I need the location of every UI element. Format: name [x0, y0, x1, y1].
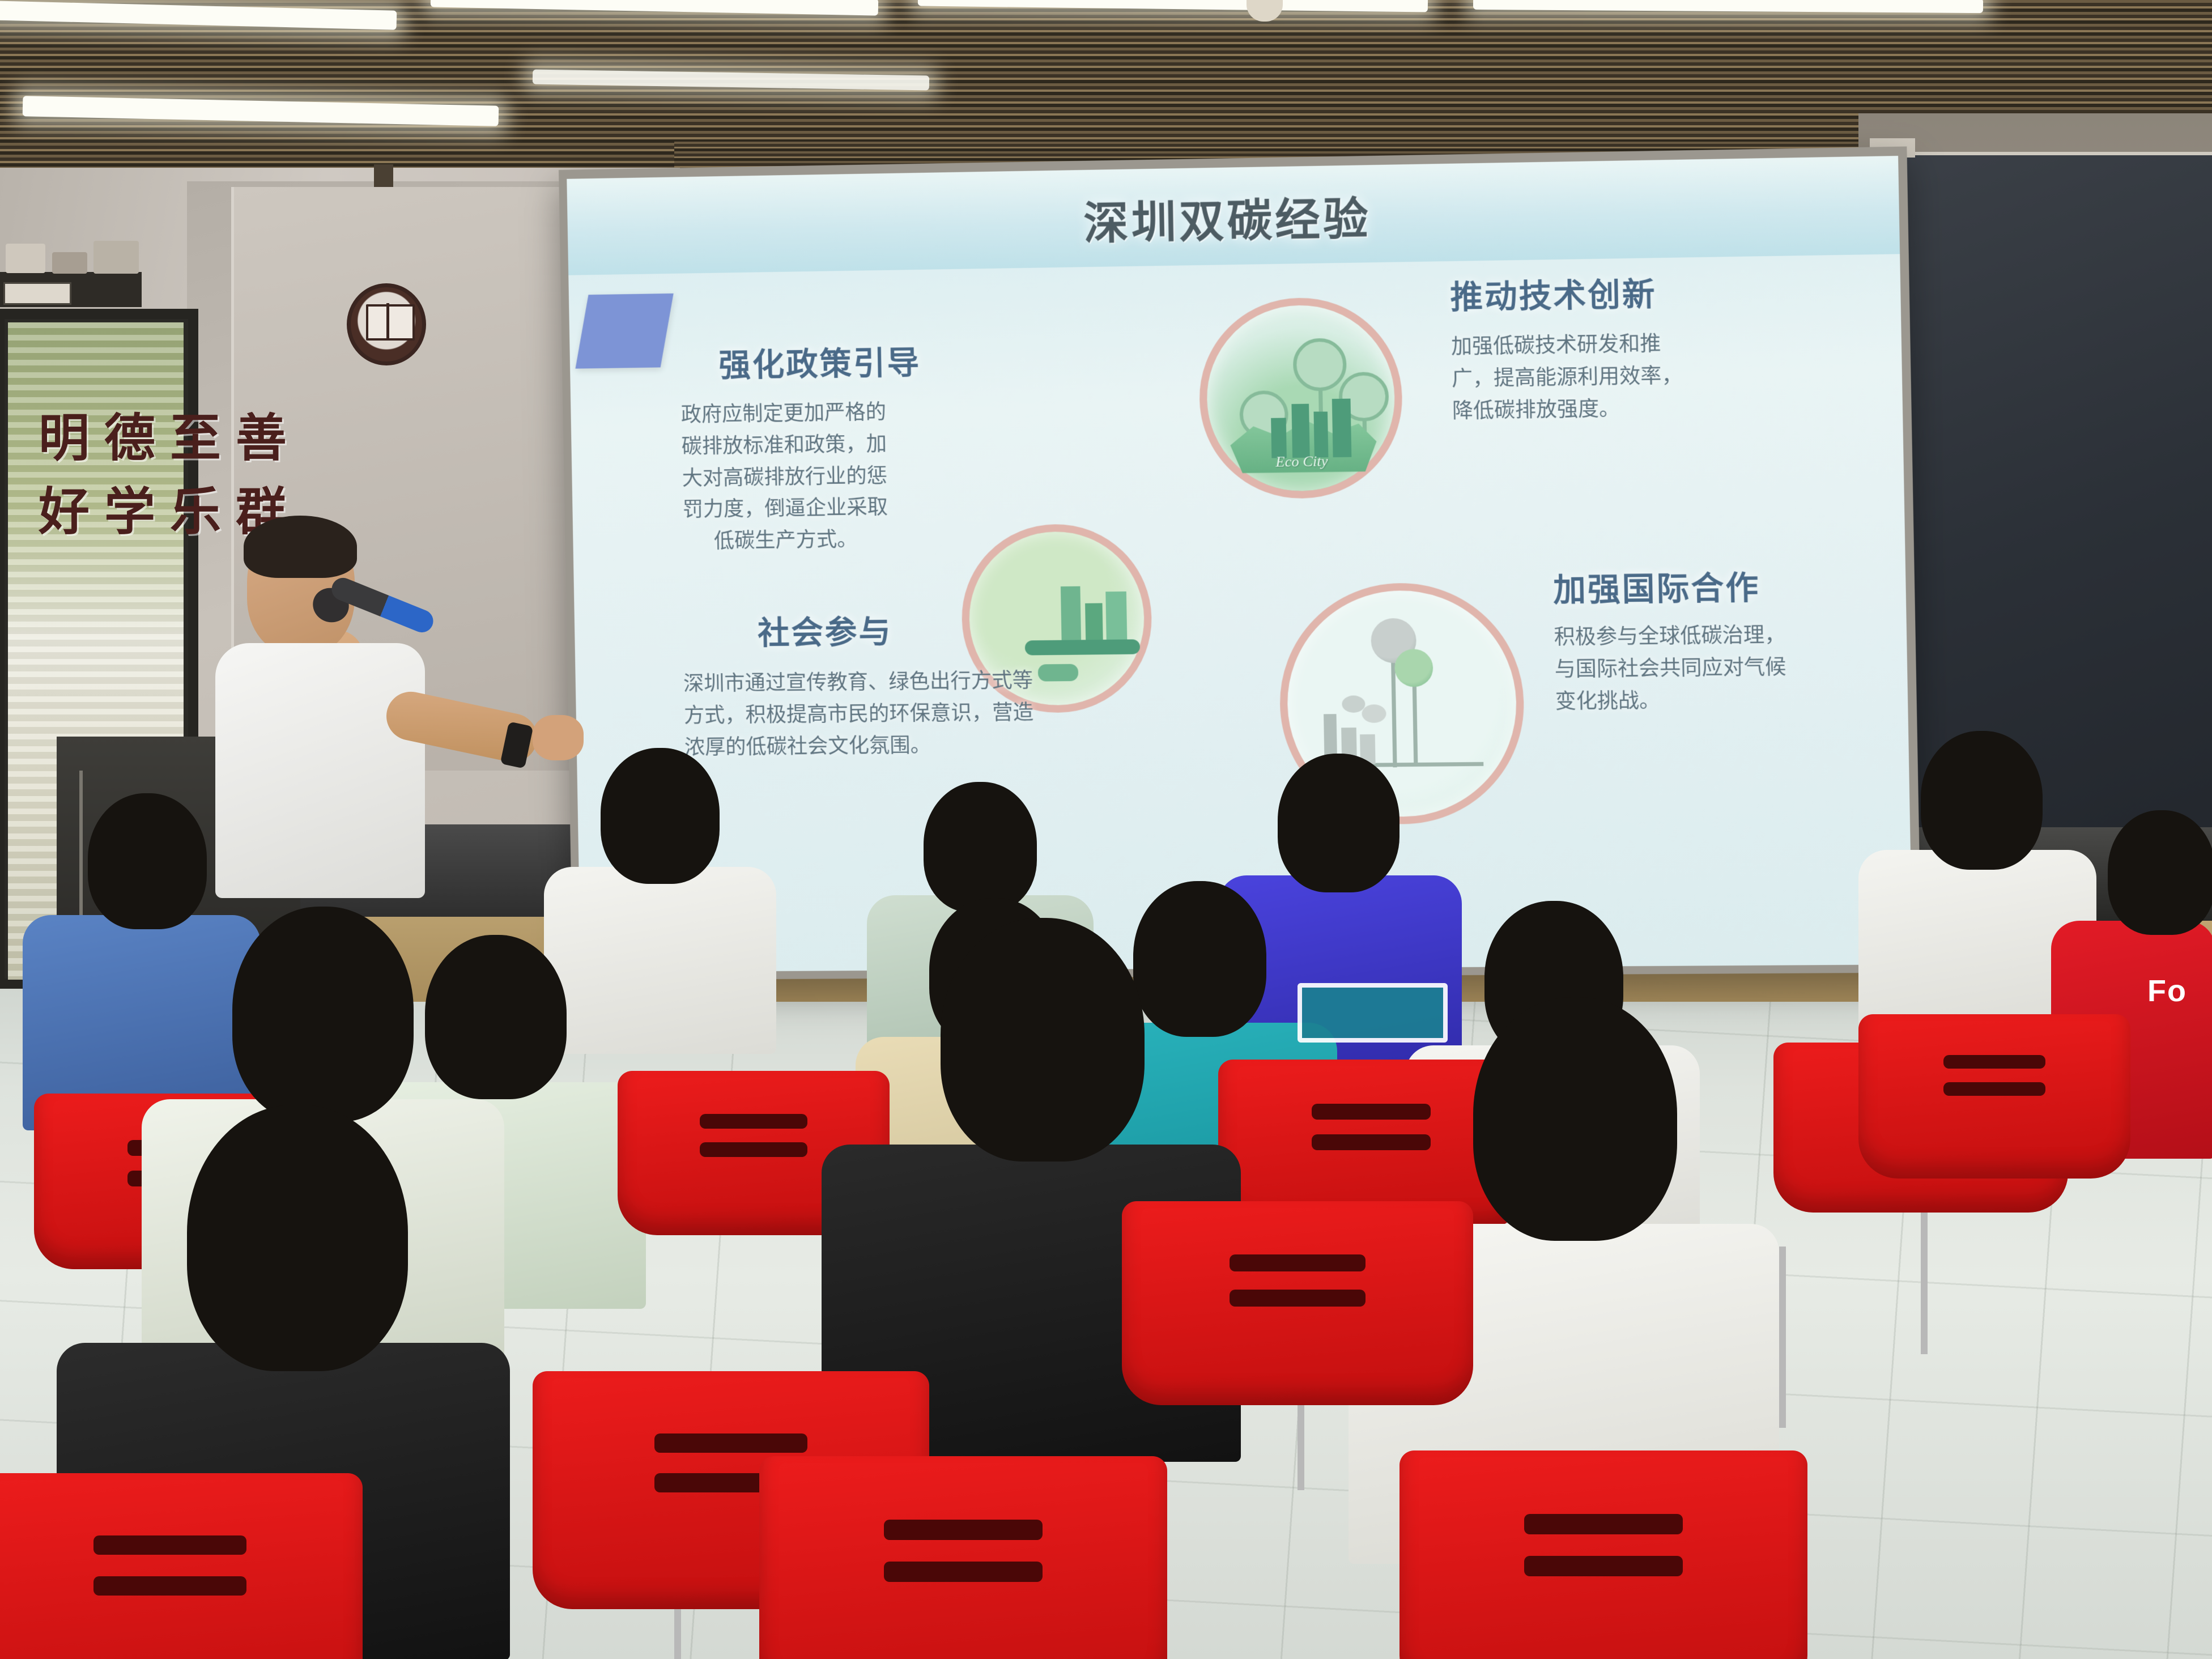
chair[interactable]: [1858, 1014, 2130, 1179]
wall-motto-line-1: 明德至善: [0, 397, 340, 470]
chair-slot: [1312, 1134, 1431, 1150]
audience-head: [1921, 731, 2043, 870]
chart-trend-line-green: [1413, 678, 1418, 765]
shelf-object: [52, 252, 87, 274]
slide-heading-policy: 强化政策引导: [718, 337, 921, 386]
slide-body-technology: 加强低碳技术研发和推广，提高能源利用效率，降低碳排放强度。: [1451, 327, 1698, 427]
chair-slot: [700, 1142, 807, 1157]
shirt-text-fo: Fo: [2147, 973, 2187, 1009]
audience-head: [425, 935, 567, 1099]
chair-slot: [93, 1535, 246, 1555]
projection-screen: 深圳双碳经验 Eco City: [567, 156, 1912, 972]
shirt-graphic-print: [1298, 983, 1448, 1043]
projection-screen-frame: 深圳双碳经验 Eco City: [559, 146, 1921, 980]
chair-slot: [1312, 1104, 1431, 1120]
chair-slot: [884, 1520, 1043, 1540]
city-building: [1332, 399, 1352, 458]
slide-heading-society: 社会参与: [757, 606, 892, 654]
audience-head: [1473, 997, 1677, 1241]
audience-head: [1133, 881, 1266, 1037]
chair-slot: [1230, 1254, 1366, 1271]
audience-head: [88, 793, 207, 929]
city-building: [1291, 404, 1309, 458]
smoke-cloud: [1342, 695, 1365, 713]
eco-city-label: Eco City: [1208, 452, 1396, 472]
shelf-object: [6, 244, 45, 273]
audience-head: [2108, 810, 2212, 935]
presenter-right-hand: [533, 715, 584, 760]
presenter-hair: [244, 516, 357, 578]
eco-city-illustration: Eco City: [1198, 296, 1404, 500]
classroom-photo-scene: 明德至善 好学乐群 深圳双碳经验: [0, 0, 2212, 1659]
school-emblem-icon: [347, 283, 426, 365]
audience-head: [232, 907, 414, 1122]
slide-body-cooperation: 积极参与全球低碳治理，与国际社会共同应对气候变化挑战。: [1554, 619, 1801, 718]
chair-slot: [1943, 1082, 2045, 1096]
slide-heading-cooperation: 加强国际合作: [1552, 562, 1760, 611]
chair-slot: [1943, 1055, 2045, 1069]
slide-heading-technology: 推动技术创新: [1450, 268, 1657, 318]
chair[interactable]: [0, 1473, 363, 1659]
street-road: [1025, 639, 1140, 655]
audience-head: [601, 748, 720, 884]
blackboard-panel: [1884, 152, 2212, 843]
audience-white-shirt: [544, 867, 776, 1054]
street-car: [1038, 664, 1079, 682]
chair-slot: [700, 1114, 807, 1129]
slide-body-society: 深圳市通过宣传教育、绿色出行方式等方式，积极提高市民的环保意识，营造浓厚的低碳社…: [683, 665, 1039, 764]
audience-head: [187, 1105, 408, 1371]
chair[interactable]: [1399, 1450, 1807, 1659]
chair-slot: [1524, 1556, 1683, 1576]
wall-poster: [3, 282, 71, 305]
chair-slot: [884, 1562, 1043, 1582]
shelf-object: [93, 241, 139, 274]
chair-slot: [1524, 1514, 1683, 1534]
smoke-cloud: [1362, 704, 1386, 723]
chair[interactable]: [759, 1456, 1167, 1659]
audience-head: [924, 782, 1037, 912]
city-building: [1271, 418, 1287, 458]
map-pin-icon: [1292, 338, 1347, 391]
audience-head: [941, 918, 1145, 1162]
chair-slot: [93, 1576, 246, 1596]
presenter-white-tshirt: [215, 643, 425, 898]
audience-head: [1278, 754, 1399, 892]
chair-leg: [1779, 1247, 1786, 1428]
chair-slot: [1230, 1290, 1366, 1307]
city-building: [1313, 411, 1328, 457]
chair[interactable]: [1122, 1201, 1473, 1405]
slide-body-policy: 政府应制定更加严格的碳排放标准和政策，加大对高碳排放行业的惩罚力度，倒逼企业采取…: [671, 397, 897, 558]
globe-icon-green: [1394, 649, 1433, 687]
slide-body: Eco City: [567, 156, 1912, 972]
chair-slot: [654, 1433, 807, 1453]
